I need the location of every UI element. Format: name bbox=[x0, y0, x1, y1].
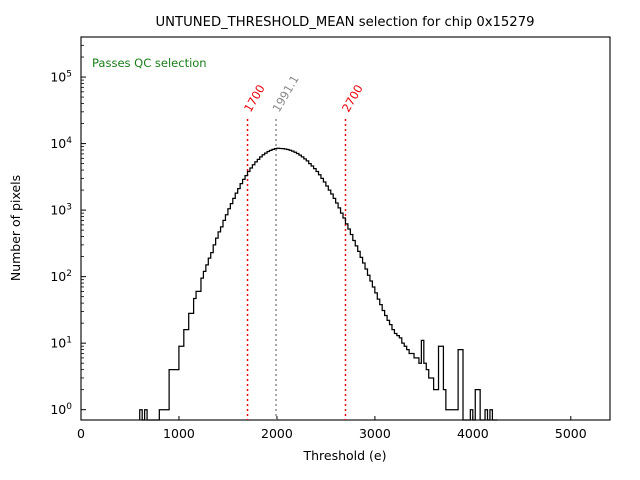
x-tick-label: 2000 bbox=[261, 426, 293, 441]
figure-background bbox=[0, 0, 640, 480]
x-tick-label: 5000 bbox=[555, 426, 587, 441]
histogram-plot: UNTUNED_THRESHOLD_MEAN selection for chi… bbox=[0, 0, 640, 480]
page-title: UNTUNED_THRESHOLD_MEAN selection for chi… bbox=[156, 15, 535, 30]
x-tick-label: 3000 bbox=[359, 426, 391, 441]
y-axis-label: Number of pixels bbox=[8, 175, 23, 281]
qc-status-annotation: Passes QC selection bbox=[92, 56, 207, 70]
matplotlib-figure: UNTUNED_THRESHOLD_MEAN selection for chi… bbox=[0, 0, 640, 480]
x-tick-label: 4000 bbox=[457, 426, 489, 441]
x-tick-label: 1000 bbox=[163, 426, 195, 441]
x-axis-label: Threshold (e) bbox=[302, 448, 386, 463]
x-tick-label: 0 bbox=[77, 426, 85, 441]
